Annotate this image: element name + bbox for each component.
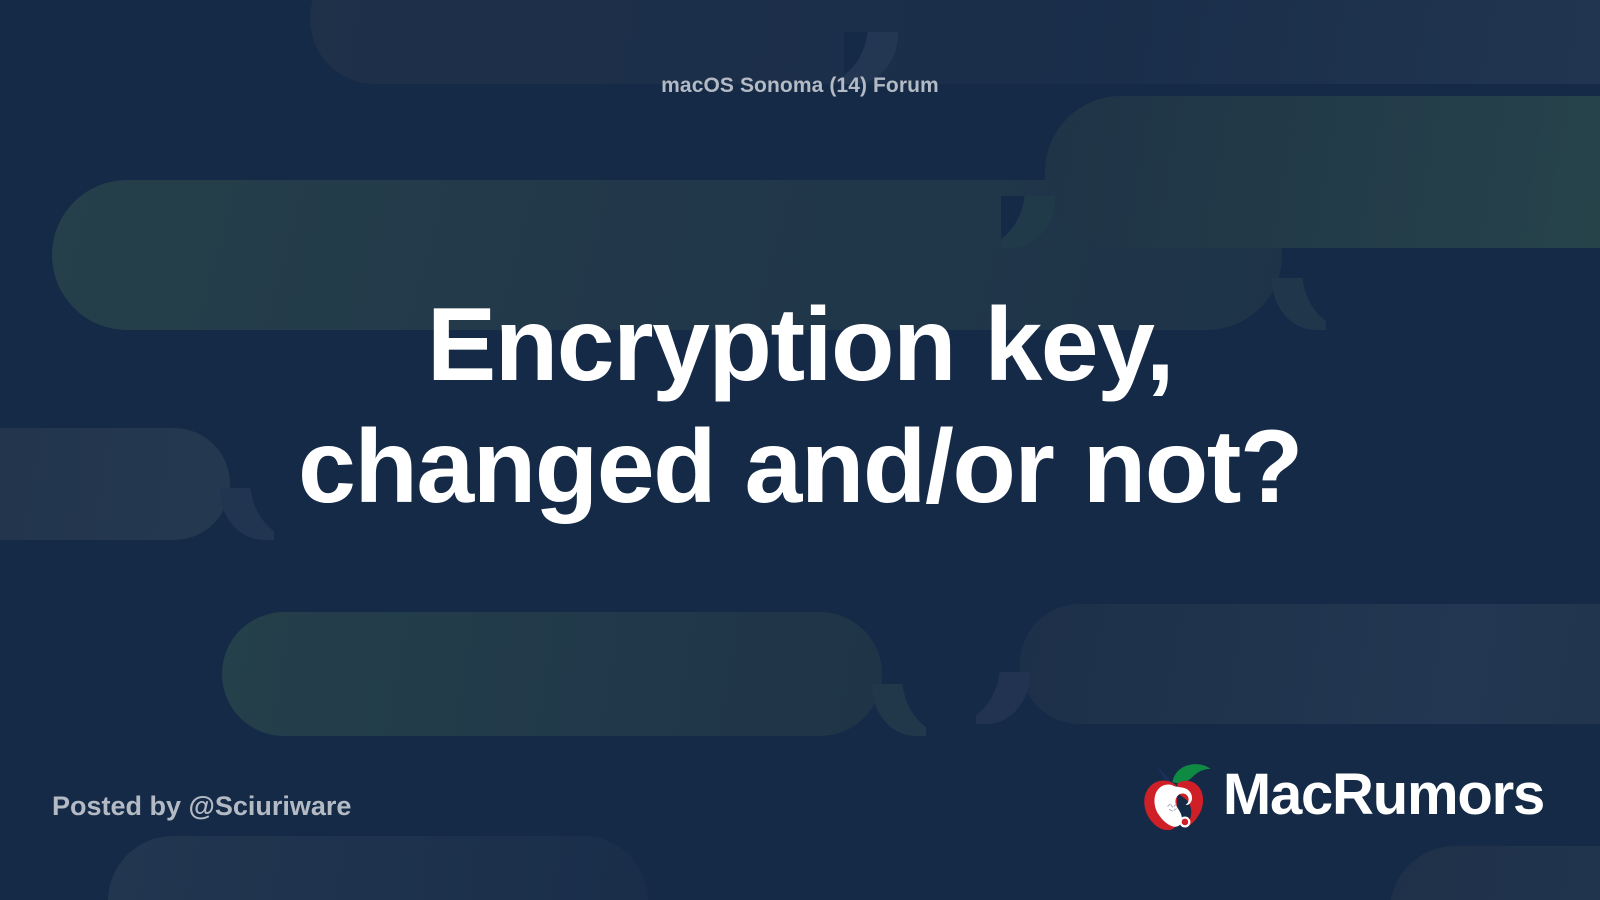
title-block: Encryption key, changed and/or not?	[0, 285, 1600, 528]
forum-label: macOS Sonoma (14) Forum	[0, 74, 1600, 98]
macrumors-wordmark: MacRumors	[1223, 766, 1544, 828]
macrumors-brand-lockup: MacRumors	[1135, 758, 1544, 836]
post-author-byline: Posted by @Sciuriware	[52, 791, 351, 822]
speech-bubble-bottom-left	[108, 836, 648, 900]
page-title: Encryption key, changed and/or not?	[60, 285, 1540, 528]
speech-bubble-top-right	[310, 0, 1600, 84]
speech-bubble-mid-right-teal	[1045, 96, 1600, 248]
speech-bubble-bottom-right	[1390, 846, 1600, 900]
forum-share-card: macOS Sonoma (14) Forum Encryption key, …	[0, 0, 1600, 900]
speech-bubble-lower-right-blue	[1020, 604, 1600, 724]
page-title-line-1: Encryption key,	[427, 287, 1173, 403]
page-title-line-2: changed and/or not?	[298, 409, 1302, 525]
speech-bubble-lower-left-teal	[222, 612, 882, 736]
macrumors-apple-question-logo-icon	[1135, 758, 1213, 836]
